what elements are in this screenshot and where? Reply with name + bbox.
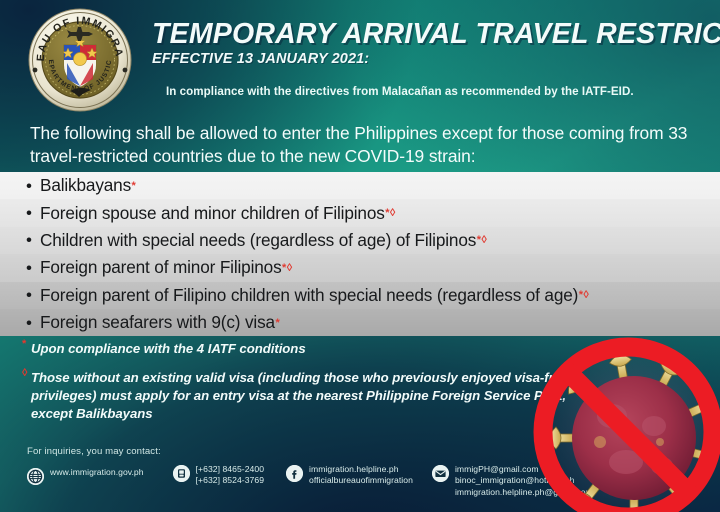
footnote-marker: *◊ xyxy=(579,289,590,301)
phone-line-2: [+632] 8524-3769 xyxy=(196,475,264,485)
footnote-marker: *◊ xyxy=(477,234,488,246)
list-item: • Foreign seafarers with 9(c) visa * xyxy=(0,309,720,336)
list-item-label: Foreign spouse and minor children of Fil… xyxy=(40,203,385,224)
email-icon xyxy=(432,465,449,482)
intro-paragraph: The following shall be allowed to enter … xyxy=(30,122,702,168)
footnote-marker: * xyxy=(275,317,280,329)
travel-restrictions-poster: BUREAU OF IMMIGRATION DEPARTMENT OF JUST… xyxy=(0,0,720,512)
title-block: TEMPORARY ARRIVAL TRAVEL RESTRICTIONS EF… xyxy=(152,20,718,67)
facebook-page-2: officialbureauofimmigration xyxy=(309,475,413,485)
footnote-marker: ◊ xyxy=(22,366,27,381)
footnote: * Upon compliance with the 4 IATF condit… xyxy=(22,340,582,358)
facebook-pages: immigration.helpline.ph officialbureauof… xyxy=(309,464,413,487)
bullet-icon: • xyxy=(26,314,32,331)
inquiries-heading: For inquiries, you may contact: xyxy=(27,446,587,457)
globe-icon xyxy=(27,468,44,485)
page-title: TEMPORARY ARRIVAL TRAVEL RESTRICTIONS xyxy=(152,20,718,49)
email-line-3: immigration.helpline.ph@gmail.com xyxy=(455,487,593,497)
footnote-text: Upon compliance with the 4 IATF conditio… xyxy=(31,341,306,356)
footnote-marker: *◊ xyxy=(385,207,396,219)
email-addresses: immigPH@gmail.com binoc_immigration@hotm… xyxy=(455,464,593,498)
facebook-page-1: immigration.helpline.ph xyxy=(309,464,399,474)
phone-icon xyxy=(173,465,190,482)
footnote: ◊ Those without an existing valid visa (… xyxy=(22,369,582,423)
list-item-label: Foreign parent of minor Filipinos xyxy=(40,257,282,278)
footnote-text: Those without an existing valid visa (in… xyxy=(31,370,568,421)
list-item-label: Foreign seafarers with 9(c) visa xyxy=(40,312,275,333)
facebook-icon xyxy=(286,465,303,482)
list-item: • Foreign spouse and minor children of F… xyxy=(0,199,720,226)
bullet-icon: • xyxy=(26,205,32,222)
phone-line-1: [+632] 8465-2400 xyxy=(196,464,264,474)
contact-website[interactable]: www.immigration.gov.ph xyxy=(27,464,144,485)
allowed-entrants-list: • Balikbayans * • Foreign spouse and min… xyxy=(0,172,720,336)
list-item: • Children with special needs (regardles… xyxy=(0,227,720,254)
contact-email[interactable]: immigPH@gmail.com binoc_immigration@hotm… xyxy=(432,464,593,498)
list-item: • Foreign parent of minor Filipinos *◊ xyxy=(0,254,720,281)
contact-rows: www.immigration.gov.ph [+632] 8465-2400 … xyxy=(27,464,587,498)
footnote-marker: * xyxy=(22,337,26,352)
website-url: www.immigration.gov.ph xyxy=(50,467,144,478)
footnote-marker: * xyxy=(132,180,137,192)
email-line-1: immigPH@gmail.com xyxy=(455,464,539,474)
footnote-marker: *◊ xyxy=(282,262,293,274)
list-item-label: Balikbayans xyxy=(40,175,131,196)
footnotes: * Upon compliance with the 4 IATF condit… xyxy=(22,340,582,423)
contact-facebook[interactable]: immigration.helpline.ph officialbureauof… xyxy=(286,464,413,487)
bureau-of-immigration-seal-icon: BUREAU OF IMMIGRATION DEPARTMENT OF JUST… xyxy=(14,7,146,113)
bullet-icon: • xyxy=(26,259,32,276)
phone-numbers: [+632] 8465-2400 [+632] 8524-3769 xyxy=(196,464,264,487)
contact-section: For inquiries, you may contact: www.immi… xyxy=(27,446,587,498)
bullet-icon: • xyxy=(26,287,32,304)
list-item: • Foreign parent of Filipino children wi… xyxy=(0,282,720,309)
poster-header: BUREAU OF IMMIGRATION DEPARTMENT OF JUST… xyxy=(0,0,720,118)
bullet-icon: • xyxy=(26,177,32,194)
list-item-label: Foreign parent of Filipino children with… xyxy=(40,285,578,306)
list-item: • Balikbayans * xyxy=(0,172,720,199)
effective-date: EFFECTIVE 13 JANUARY 2021: xyxy=(152,51,718,67)
list-item-label: Children with special needs (regardless … xyxy=(40,230,476,251)
contact-phone[interactable]: [+632] 8465-2400 [+632] 8524-3769 xyxy=(173,464,264,487)
bullet-icon: • xyxy=(26,232,32,249)
email-line-2: binoc_immigration@hotmail.ph xyxy=(455,475,575,485)
compliance-note: In compliance with the directives from M… xyxy=(166,85,634,98)
